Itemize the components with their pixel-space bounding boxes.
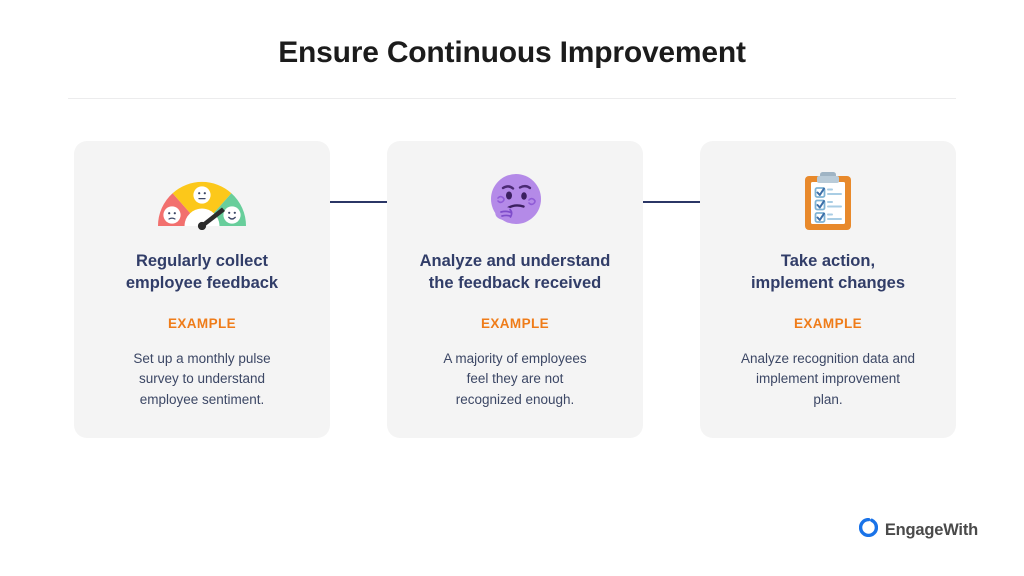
card-body-text: Set up a monthly pulse survey to underst…	[133, 349, 270, 411]
card-collect-feedback[interactable]: Regularly collect employee feedback EXAM…	[74, 141, 330, 438]
slide-canvas: Ensure Continuous Improvement	[0, 0, 1024, 576]
satisfaction-gauge-icon	[156, 169, 248, 235]
step-cards-row: Regularly collect employee feedback EXAM…	[74, 141, 956, 438]
card-heading: Analyze and understand the feedback rece…	[420, 251, 611, 295]
example-label: EXAMPLE	[794, 316, 862, 331]
title-divider	[68, 98, 956, 99]
engagewith-logo[interactable]: EngageWith	[859, 518, 978, 542]
engagewith-ring-icon	[859, 518, 878, 542]
example-label: EXAMPLE	[168, 316, 236, 331]
card-body-text: A majority of employees feel they are no…	[443, 349, 586, 411]
card-body-text: Analyze recognition data and implement i…	[741, 349, 915, 411]
thinking-face-icon	[484, 169, 546, 235]
clipboard-checklist-icon	[800, 169, 856, 235]
example-label: EXAMPLE	[481, 316, 549, 331]
card-heading: Regularly collect employee feedback	[126, 251, 278, 295]
card-heading: Take action, implement changes	[751, 251, 905, 295]
engagewith-logo-text: EngageWith	[885, 521, 978, 540]
page-title: Ensure Continuous Improvement	[0, 36, 1024, 70]
card-take-action[interactable]: Take action, implement changes EXAMPLE A…	[700, 141, 956, 438]
card-analyze-feedback[interactable]: Analyze and understand the feedback rece…	[387, 141, 643, 438]
